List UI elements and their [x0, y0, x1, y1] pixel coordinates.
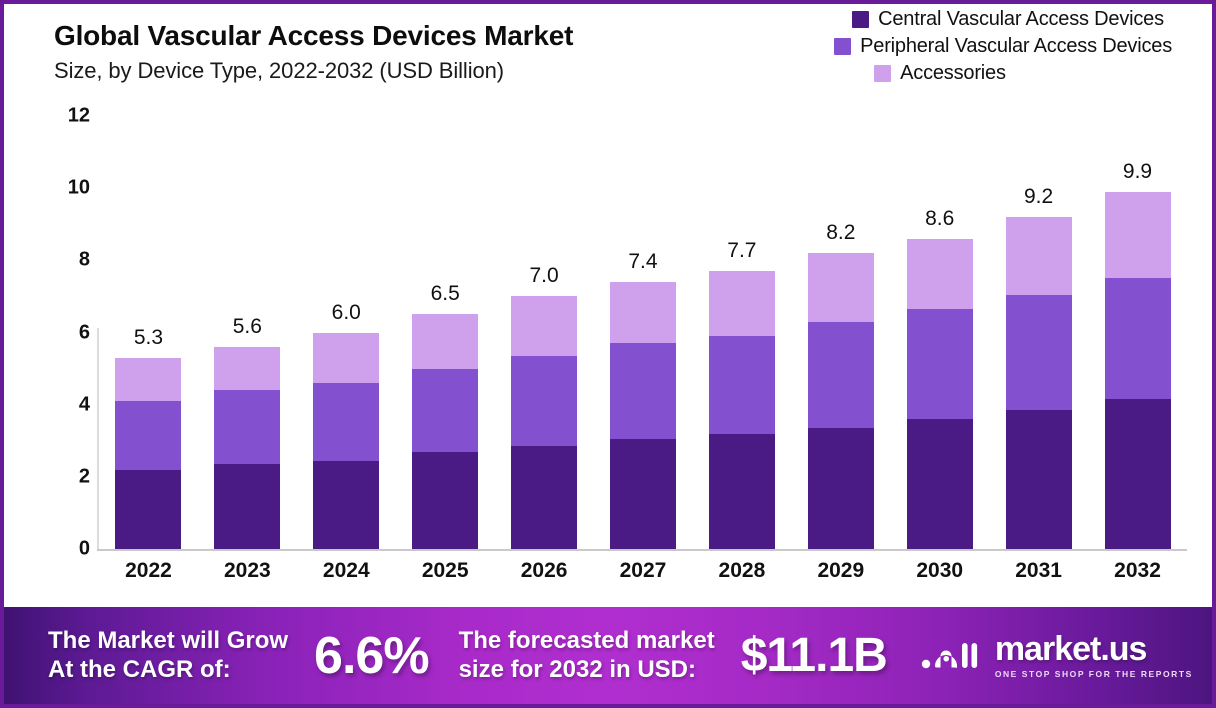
bar-segment[interactable]	[808, 428, 874, 549]
y-axis-tick: 4	[79, 393, 90, 416]
bar-segment[interactable]	[511, 446, 577, 549]
bar-total-label: 7.0	[529, 264, 558, 288]
bar-group[interactable]: 5.3	[115, 116, 181, 549]
bar-segment[interactable]	[511, 296, 577, 356]
bar-segment[interactable]	[1006, 295, 1072, 410]
x-axis-tick: 2024	[313, 559, 379, 583]
bar-group[interactable]: 7.4	[610, 116, 676, 549]
bar-segment[interactable]	[511, 356, 577, 446]
cagr-caption: The Market will Grow At the CAGR of:	[48, 627, 288, 684]
y-axis: 024681012	[48, 116, 90, 550]
bar-group[interactable]: 6.0	[313, 116, 379, 549]
bar-segment[interactable]	[1105, 278, 1171, 399]
legend-label-central: Central Vascular Access Devices	[878, 8, 1164, 31]
forecast-caption-line2: size for 2032 in USD:	[459, 656, 715, 684]
brand-text: market.us ONE STOP SHOP FOR THE REPORTS	[995, 632, 1193, 679]
bar-group[interactable]: 7.7	[709, 116, 775, 549]
bar-segment[interactable]	[412, 314, 478, 368]
bar-segment[interactable]	[907, 239, 973, 309]
bar-segment[interactable]	[115, 401, 181, 470]
legend-label-peripheral: Peripheral Vascular Access Devices	[860, 35, 1172, 58]
bar-segment[interactable]	[610, 439, 676, 549]
title-block: Global Vascular Access Devices Market Si…	[54, 20, 573, 84]
brand-name: market.us	[995, 632, 1193, 666]
x-axis-tick: 2032	[1105, 559, 1171, 583]
x-axis-tick: 2030	[907, 559, 973, 583]
bar-segment[interactable]	[610, 282, 676, 343]
bar-segment[interactable]	[808, 322, 874, 428]
bar-total-label: 8.2	[826, 221, 855, 245]
x-axis-tick: 2023	[214, 559, 280, 583]
bar-total-label: 5.3	[134, 326, 163, 350]
bar-segment[interactable]	[709, 336, 775, 433]
bar-segment[interactable]	[1105, 192, 1171, 279]
x-axis-tick: 2026	[511, 559, 577, 583]
forecast-value: $11.1B	[741, 628, 887, 683]
bar-segment[interactable]	[214, 390, 280, 464]
bar-segment[interactable]	[412, 369, 478, 452]
forecast-caption: The forecasted market size for 2032 in U…	[459, 627, 715, 684]
page-subtitle: Size, by Device Type, 2022-2032 (USD Bil…	[54, 58, 573, 84]
bar-segment[interactable]	[313, 333, 379, 384]
bar-segment[interactable]	[115, 470, 181, 549]
bar-group[interactable]: 8.2	[808, 116, 874, 549]
legend-item-central[interactable]: Central Vascular Access Devices	[852, 8, 1164, 31]
cagr-value: 6.6%	[314, 626, 429, 686]
bar-segment[interactable]	[709, 434, 775, 549]
bar-total-label: 7.4	[628, 250, 657, 274]
legend-swatch-accessories	[874, 65, 891, 82]
market-us-logo-icon	[921, 634, 983, 677]
bar-series-container: 5.35.66.06.57.07.47.78.28.69.29.9	[99, 116, 1187, 549]
bar-segment[interactable]	[214, 347, 280, 390]
bar-segment[interactable]	[412, 452, 478, 549]
x-axis: 2022202320242025202620272028202920302031…	[99, 559, 1187, 599]
x-axis-tick: 2022	[115, 559, 181, 583]
y-axis-tick: 10	[68, 177, 90, 200]
x-axis-tick: 2029	[808, 559, 874, 583]
bar-group[interactable]: 8.6	[907, 116, 973, 549]
brand-tagline: ONE STOP SHOP FOR THE REPORTS	[995, 670, 1193, 679]
x-axis-tick: 2025	[412, 559, 478, 583]
legend-label-accessories: Accessories	[900, 62, 1006, 85]
bottom-banner: The Market will Grow At the CAGR of: 6.6…	[4, 607, 1212, 704]
x-axis-tick: 2027	[610, 559, 676, 583]
y-axis-tick: 12	[68, 105, 90, 128]
infographic-frame: Global Vascular Access Devices Market Si…	[0, 0, 1216, 708]
bar-segment[interactable]	[1105, 399, 1171, 549]
cagr-caption-line2: At the CAGR of:	[48, 656, 288, 684]
bar-segment[interactable]	[313, 461, 379, 549]
bar-total-label: 5.6	[233, 315, 262, 339]
bar-group[interactable]: 9.9	[1105, 116, 1171, 549]
legend-swatch-peripheral	[834, 38, 851, 55]
bar-segment[interactable]	[907, 419, 973, 549]
x-axis-tick: 2031	[1006, 559, 1072, 583]
bar-total-label: 6.5	[431, 282, 460, 306]
bar-group[interactable]: 6.5	[412, 116, 478, 549]
y-axis-tick: 8	[79, 249, 90, 272]
brand-logo[interactable]: market.us ONE STOP SHOP FOR THE REPORTS	[921, 632, 1193, 679]
bar-group[interactable]: 5.6	[214, 116, 280, 549]
bar-total-label: 9.2	[1024, 185, 1053, 209]
bar-total-label: 8.6	[925, 207, 954, 231]
bar-segment[interactable]	[907, 309, 973, 419]
cagr-caption-line1: The Market will Grow	[48, 627, 288, 655]
legend-item-accessories[interactable]: Accessories	[874, 62, 1006, 85]
bar-total-label: 7.7	[727, 239, 756, 263]
bar-segment[interactable]	[313, 383, 379, 461]
bar-segment[interactable]	[115, 358, 181, 401]
bar-segment[interactable]	[214, 464, 280, 549]
bar-total-label: 6.0	[332, 301, 361, 325]
y-axis-tick: 0	[79, 538, 90, 561]
bar-segment[interactable]	[1006, 410, 1072, 549]
bar-segment[interactable]	[610, 343, 676, 439]
x-axis-tick: 2028	[709, 559, 775, 583]
bar-segment[interactable]	[808, 253, 874, 322]
page-title: Global Vascular Access Devices Market	[54, 20, 573, 52]
legend-swatch-central	[852, 11, 869, 28]
forecast-caption-line1: The forecasted market	[459, 627, 715, 655]
chart-legend: Central Vascular Access Devices Peripher…	[852, 8, 1172, 85]
bar-segment[interactable]	[1006, 217, 1072, 295]
chart-header: Global Vascular Access Devices Market Si…	[4, 4, 1212, 116]
y-axis-tick: 6	[79, 321, 90, 344]
plot-area: 024681012 5.35.66.06.57.07.47.78.28.69.2…	[4, 116, 1212, 604]
bar-group[interactable]: 7.0	[511, 116, 577, 549]
bar-segment[interactable]	[709, 271, 775, 336]
bar-group[interactable]: 9.2	[1006, 116, 1072, 549]
bar-total-label: 9.9	[1123, 160, 1152, 184]
x-axis-line	[97, 549, 1187, 551]
y-axis-tick: 2	[79, 465, 90, 488]
legend-item-peripheral[interactable]: Peripheral Vascular Access Devices	[834, 35, 1172, 58]
